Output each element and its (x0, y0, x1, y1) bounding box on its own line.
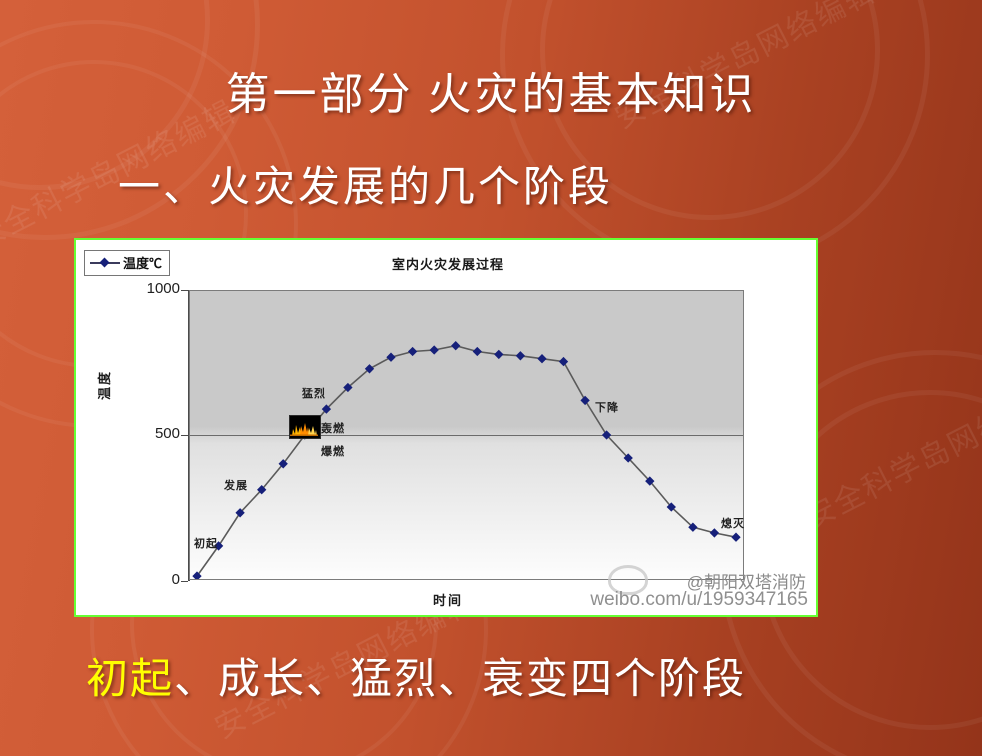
fire-glyph-icon (290, 416, 318, 436)
chart-panel: 室内火灾发展过程 温度℃ 温度 1000 500 0 初起 发展 猛烈 (74, 238, 818, 617)
annotation-decay: 下降 (595, 399, 619, 415)
fire-icon (289, 415, 321, 439)
y-tick-mark (181, 435, 188, 436)
y-tick-mark (181, 290, 188, 291)
annotation-growth: 发展 (224, 477, 248, 493)
annotation-incipient: 初起 (194, 535, 218, 551)
y-tick-mark (181, 581, 188, 582)
legend-line-marker-icon (90, 262, 120, 264)
chart-title: 室内火灾发展过程 (76, 254, 818, 273)
y-tick-label-500: 500 (116, 425, 180, 442)
stage-summary-highlight: 初起 (86, 657, 174, 703)
y-tick-label-0: 0 (116, 571, 180, 588)
chart-legend: 温度℃ (84, 250, 170, 276)
y-tick-label-1000: 1000 (116, 280, 180, 297)
legend-label: 温度℃ (123, 253, 162, 272)
annotation-fully-developed: 猛烈 (302, 385, 326, 401)
temperature-curve (190, 291, 743, 579)
stage-summary-line: 初起、成长、猛烈、衰变四个阶段 (86, 645, 746, 706)
chart-canvas: 室内火灾发展过程 温度℃ 温度 1000 500 0 初起 发展 猛烈 (76, 240, 816, 615)
presentation-slide: 安全科学岛网络编辑 安全科学岛网络编辑 安全科学岛网络编辑 安全科学岛网络编辑 … (0, 0, 982, 756)
annotation-extinction: 熄灭 (721, 515, 745, 531)
stage-summary-rest: 、成长、猛烈、衰变四个阶段 (174, 657, 746, 703)
decorative-ring (500, 0, 930, 270)
annotation-deflagration: 爆燃 (321, 443, 345, 459)
section-heading: 一、火灾发展的几个阶段 (118, 153, 613, 214)
y-axis-title: 温度 (94, 370, 113, 400)
weibo-url-watermark: weibo.com/u/1959347165 (590, 589, 808, 611)
plot-area (189, 290, 744, 580)
annotation-flashover: 轰燃 (321, 420, 345, 436)
page-title: 第一部分 火灾的基本知识 (0, 58, 982, 122)
background-watermark-text: 安全科学岛网络编辑 (796, 367, 982, 537)
